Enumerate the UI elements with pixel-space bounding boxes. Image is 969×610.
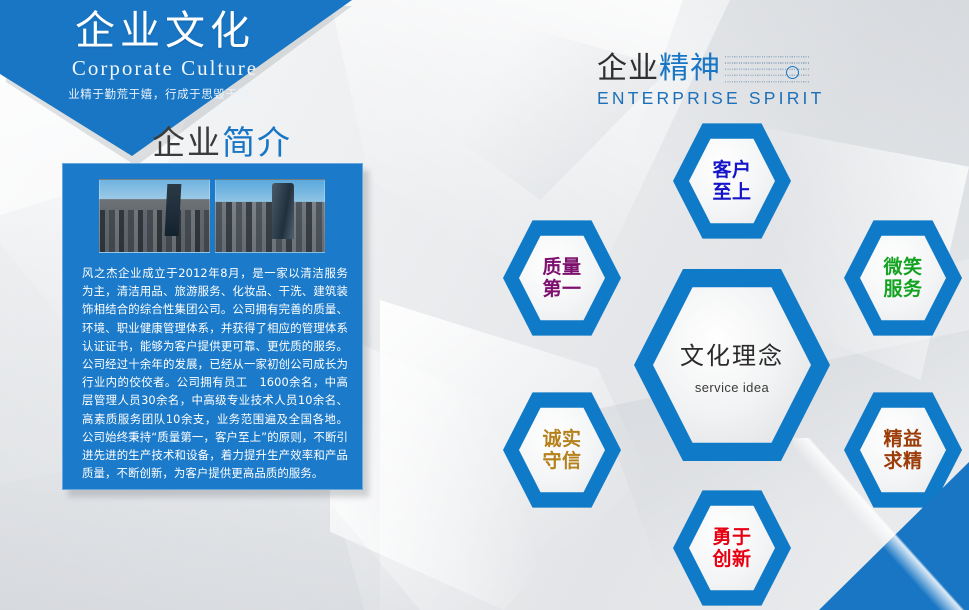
spirit-heading-en: ENTERPRISE SPIRIT xyxy=(597,88,817,109)
hex-node-label-line2: 守信 xyxy=(542,450,581,472)
hex-node-label-line1: 微笑 xyxy=(883,256,922,278)
hex-node-label-line1: 勇于 xyxy=(712,526,751,548)
hex-node-label-line2: 服务 xyxy=(883,278,922,300)
hex-node-upper-left[interactable]: 质量 第一 xyxy=(503,218,621,338)
hex-node-label-line2: 求精 xyxy=(883,450,922,472)
hex-node-label-line1: 诚实 xyxy=(542,428,581,450)
city-skyline-photo xyxy=(99,179,210,253)
company-intro-panel: 风之杰企业成立于2012年8月，是一家以清洁服务为主，清洁用品、旅游服务、化妆品… xyxy=(62,163,363,490)
hex-node-bottom[interactable]: 勇于 创新 xyxy=(673,488,791,608)
banner-subtitle: 业精于勤荒于嬉，行成于思毁于随。 xyxy=(0,86,330,102)
hex-node-inner: 微笑 服务 xyxy=(860,234,946,322)
banner-title-en: Corporate Culture xyxy=(0,56,330,81)
skyscraper-photo xyxy=(215,179,326,253)
company-intro-text: 风之杰企业成立于2012年8月，是一家以清洁服务为主，清洁用品、旅游服务、化妆品… xyxy=(82,264,348,482)
hex-center-inner: 文化理念 service idea xyxy=(653,284,811,446)
spirit-heading-dark: 企业 xyxy=(597,51,659,86)
hex-node-upper-right[interactable]: 微笑 服务 xyxy=(844,218,962,338)
hex-node-inner: 客户 至上 xyxy=(689,137,775,225)
hex-node-lower-left[interactable]: 诚实 守信 xyxy=(503,390,621,510)
hex-center-subtitle: service idea xyxy=(695,380,769,395)
intro-heading: 企业简介 xyxy=(152,116,292,164)
hex-node-label-line1: 客户 xyxy=(712,159,751,181)
hex-node-label-line2: 创新 xyxy=(712,548,751,570)
hex-center-culture-idea[interactable]: 文化理念 service idea xyxy=(634,265,830,465)
panel-photo-row xyxy=(99,179,325,253)
banner-text-group: 企业文化 Corporate Culture 业精于勤荒于嬉，行成于思毁于随。 xyxy=(0,8,330,102)
hex-node-top[interactable]: 客户 至上 xyxy=(673,121,791,241)
panel-surface: 风之杰企业成立于2012年8月，是一家以清洁服务为主，清洁用品、旅游服务、化妆品… xyxy=(62,163,363,490)
hex-node-inner: 勇于 创新 xyxy=(689,504,775,592)
hex-node-inner: 诚实 守信 xyxy=(519,406,605,494)
circle-accent-icon xyxy=(786,66,799,79)
hex-center-title: 文化理念 xyxy=(680,336,784,371)
intro-heading-blue: 简介 xyxy=(222,123,292,162)
hex-node-label-line1: 精益 xyxy=(883,428,922,450)
banner-title-cn: 企业文化 xyxy=(0,8,330,55)
slide-canvas: 企业文化 Corporate Culture 业精于勤荒于嬉，行成于思毁于随。 … xyxy=(0,0,969,610)
intro-heading-dark: 企业 xyxy=(152,123,222,162)
spirit-heading-blue: 精神 xyxy=(659,51,721,86)
hex-node-inner: 质量 第一 xyxy=(519,234,605,322)
hex-node-inner: 精益 求精 xyxy=(860,406,946,494)
hex-node-label-line1: 质量 xyxy=(542,256,581,278)
hex-node-label-line2: 第一 xyxy=(542,278,581,300)
hex-node-label-line2: 至上 xyxy=(712,181,751,203)
